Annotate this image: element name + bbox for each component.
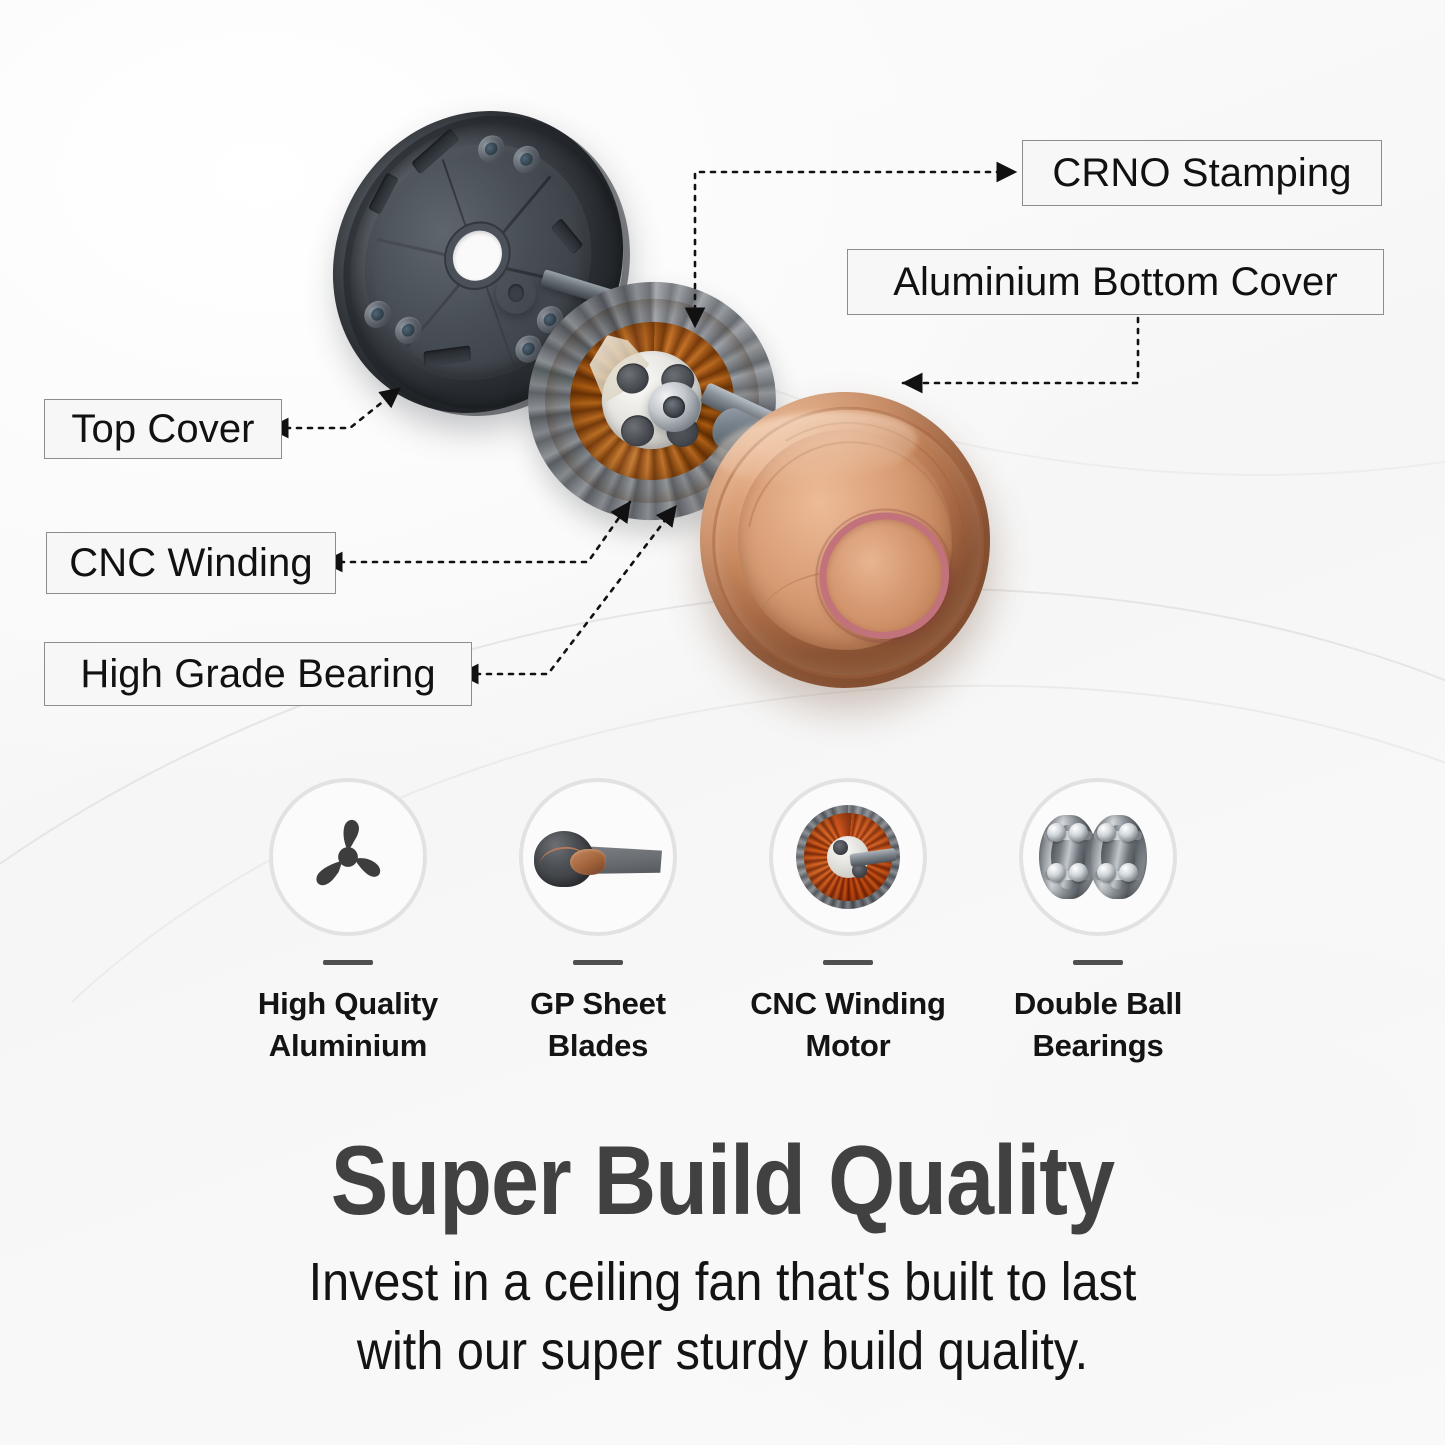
feature-label-line2: Aluminium bbox=[258, 1025, 438, 1067]
callout-label-aluminium-bottom-cover: Aluminium Bottom Cover bbox=[847, 249, 1384, 315]
feature-item-gp-sheet-blades: GP Sheet Blades bbox=[482, 778, 714, 1068]
subline-line1: Invest in a ceiling fan that's built to … bbox=[72, 1248, 1373, 1317]
feature-item-cnc-winding-motor: CNC Winding Motor bbox=[732, 778, 964, 1068]
feature-label-line1: Double Ball bbox=[1014, 983, 1182, 1025]
ball-bearings-icon bbox=[1039, 809, 1157, 905]
feature-label-line1: CNC Winding bbox=[750, 983, 946, 1025]
feature-icon-circle bbox=[519, 778, 677, 936]
feature-item-high-quality-aluminium: High Quality Aluminium bbox=[232, 778, 464, 1068]
feature-divider-dash bbox=[1073, 960, 1123, 965]
feature-divider-dash bbox=[323, 960, 373, 965]
feature-label: High Quality Aluminium bbox=[258, 983, 438, 1066]
stator-motor-icon bbox=[796, 805, 900, 909]
feature-highlights-row: High Quality Aluminium GP Sheet Blades bbox=[232, 778, 1214, 1068]
subline-line2: with our super sturdy build quality. bbox=[72, 1317, 1373, 1386]
feature-label-line2: Motor bbox=[750, 1025, 946, 1067]
fan-blade-icon bbox=[534, 817, 662, 897]
feature-label: Double Ball Bearings bbox=[1014, 983, 1182, 1066]
bearing-ball bbox=[1119, 863, 1138, 882]
ball-bearing-ring bbox=[1089, 815, 1147, 899]
ceiling-fan-icon bbox=[301, 810, 395, 904]
bearing-ball bbox=[1047, 863, 1066, 882]
feature-label-line2: Blades bbox=[530, 1025, 666, 1067]
feature-icon-circle bbox=[269, 778, 427, 936]
exploded-motor-illustration: CRNO Stamping Aluminium Bottom Cover Top… bbox=[0, 0, 1445, 760]
aluminium-bottom-cover-part bbox=[688, 380, 1003, 700]
feature-label: GP Sheet Blades bbox=[530, 983, 666, 1066]
feature-item-double-ball-bearings: Double Ball Bearings bbox=[982, 778, 1214, 1068]
motor-bolt-hole bbox=[833, 840, 848, 855]
leader-aluminium-bottom-cover bbox=[903, 318, 1138, 383]
blade-clamp bbox=[570, 849, 606, 875]
bearing-ball bbox=[1097, 823, 1116, 842]
subline: Invest in a ceiling fan that's built to … bbox=[72, 1248, 1373, 1386]
feature-label-line1: High Quality bbox=[258, 983, 438, 1025]
bearing-ball bbox=[1119, 823, 1138, 842]
bearing-ball bbox=[1069, 823, 1088, 842]
infographic-canvas: CRNO Stamping Aluminium Bottom Cover Top… bbox=[0, 0, 1445, 1445]
bearing-ball bbox=[1047, 823, 1066, 842]
feature-icon-circle bbox=[769, 778, 927, 936]
feature-icon-circle bbox=[1019, 778, 1177, 936]
feature-divider-dash bbox=[823, 960, 873, 965]
bearing-ball bbox=[1069, 863, 1088, 882]
callout-label-cnc-winding: CNC Winding bbox=[46, 532, 336, 594]
callout-label-top-cover: Top Cover bbox=[44, 399, 282, 459]
feature-divider-dash bbox=[573, 960, 623, 965]
feature-label-line1: GP Sheet bbox=[530, 983, 666, 1025]
bearing-ball bbox=[1097, 863, 1116, 882]
callout-label-crno-stamping: CRNO Stamping bbox=[1022, 140, 1382, 206]
callout-label-high-grade-bearing: High Grade Bearing bbox=[44, 642, 472, 706]
feature-label: CNC Winding Motor bbox=[750, 983, 946, 1066]
feature-label-line2: Bearings bbox=[1014, 1025, 1182, 1067]
headline: Super Build Quality bbox=[87, 1128, 1359, 1234]
